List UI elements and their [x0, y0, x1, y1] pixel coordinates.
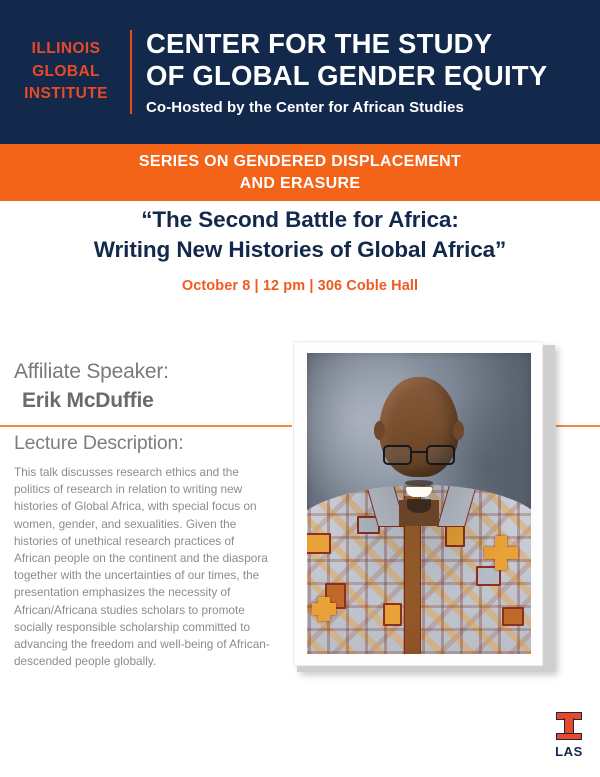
- lecture-description-heading: Lecture Description:: [14, 432, 282, 455]
- talk-title-block: “The Second Battle for Africa: Writing N…: [0, 205, 600, 294]
- talk-date-time-location: October 8 | 12 pm | 306 Coble Hall: [0, 278, 600, 294]
- lens-right: [426, 445, 455, 465]
- horizontal-divider-right: [556, 425, 600, 427]
- block-i-bottom-bar: [556, 733, 582, 741]
- glasses-bridge: [412, 451, 426, 454]
- illinois-global-institute-logo: ILLINOIS GLOBAL INSTITUTE: [0, 38, 130, 107]
- header-vertical-divider: [130, 30, 132, 114]
- header-title-line-1: CENTER FOR THE STUDY: [146, 28, 594, 60]
- header-text-block: CENTER FOR THE STUDY OF GLOBAL GENDER EQ…: [146, 28, 600, 117]
- block-i-icon: [556, 712, 582, 740]
- las-logo: LAS: [549, 712, 589, 759]
- poster-header: ILLINOIS GLOBAL INSTITUTE CENTER FOR THE…: [0, 0, 600, 144]
- series-banner-line-2: AND ERASURE: [240, 173, 361, 195]
- event-poster: ILLINOIS GLOBAL INSTITUTE CENTER FOR THE…: [0, 0, 600, 777]
- header-title-line-2: OF GLOBAL GENDER EQUITY: [146, 60, 594, 92]
- eyeglasses-icon: [383, 445, 455, 466]
- header-subtitle: Co-Hosted by the Center for African Stud…: [146, 99, 594, 116]
- lecture-description-body: This talk discusses research ethics and …: [14, 464, 272, 671]
- speaker-portrait-image: [307, 353, 531, 654]
- photo-frame: [293, 341, 543, 666]
- portrait-smile: [406, 487, 432, 497]
- ear-left: [374, 421, 385, 440]
- portrait-goatee: [407, 499, 431, 513]
- ear-right: [453, 421, 464, 440]
- left-content-column: Affiliate Speaker: Erik McDuffie Lecture…: [14, 360, 282, 671]
- igi-line-3: INSTITUTE: [2, 83, 130, 106]
- igi-line-2: GLOBAL: [2, 61, 130, 84]
- talk-title-line-2: Writing New Histories of Global Africa”: [0, 235, 600, 265]
- speaker-name: Erik McDuffie: [14, 388, 282, 413]
- lens-left: [383, 445, 412, 465]
- series-banner: SERIES ON GENDERED DISPLACEMENT AND ERAS…: [0, 144, 600, 201]
- series-banner-line-1: SERIES ON GENDERED DISPLACEMENT: [139, 151, 461, 173]
- las-logo-text: LAS: [549, 744, 589, 759]
- speaker-photo: [293, 341, 555, 672]
- igi-line-1: ILLINOIS: [2, 38, 130, 61]
- speaker-label: Affiliate Speaker:: [14, 360, 282, 385]
- talk-title-line-1: “The Second Battle for Africa:: [0, 205, 600, 235]
